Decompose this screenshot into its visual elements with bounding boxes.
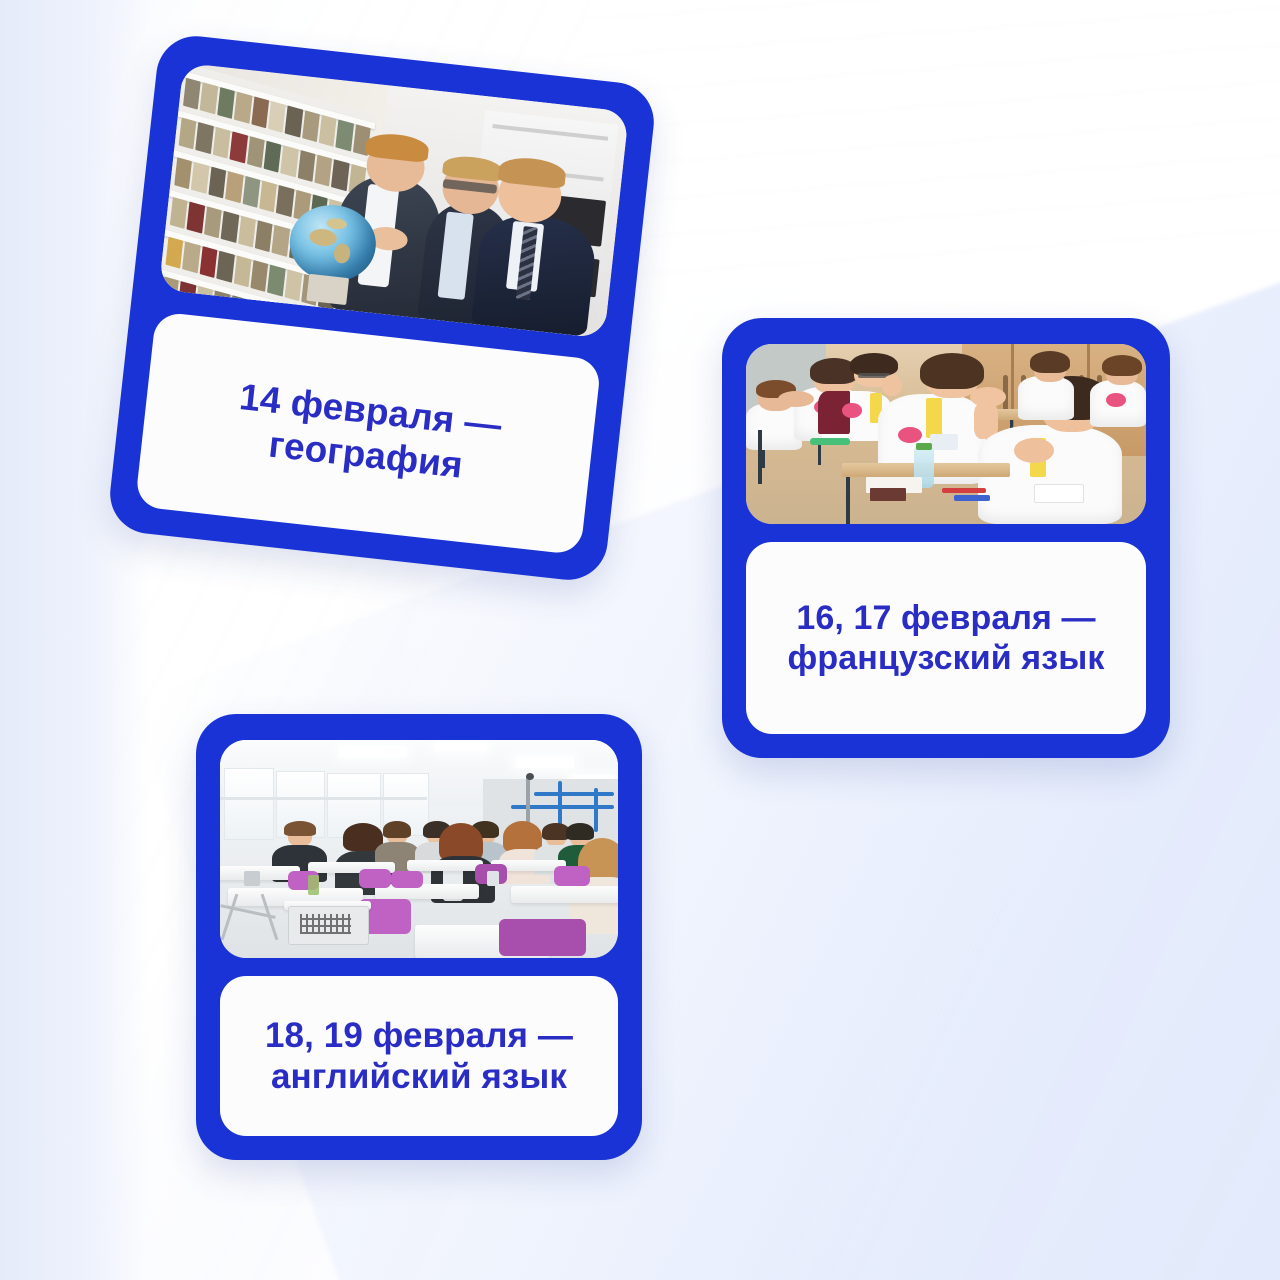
scene-library-globe: [159, 63, 629, 339]
card-geography-photo: [159, 63, 629, 339]
card-geography[interactable]: 14 февраля — география: [106, 32, 658, 584]
card-english-photo: [220, 740, 618, 958]
card-english[interactable]: 18, 19 февраля — английский язык: [196, 714, 642, 1160]
scene-exam-writing: [746, 344, 1146, 524]
poster-canvas: 14 февраля — география: [0, 0, 1280, 1280]
background-left-strip: [0, 0, 150, 1280]
card-english-caption: 18, 19 февраля — английский язык: [220, 976, 618, 1136]
card-french-caption: 16, 17 февраля — французский язык: [746, 542, 1146, 734]
card-french-photo: [746, 344, 1146, 524]
card-geography-caption: 14 февраля — география: [135, 311, 602, 555]
scene-classroom-purple-chairs: [220, 740, 618, 958]
card-french[interactable]: 16, 17 февраля — французский язык: [722, 318, 1170, 758]
